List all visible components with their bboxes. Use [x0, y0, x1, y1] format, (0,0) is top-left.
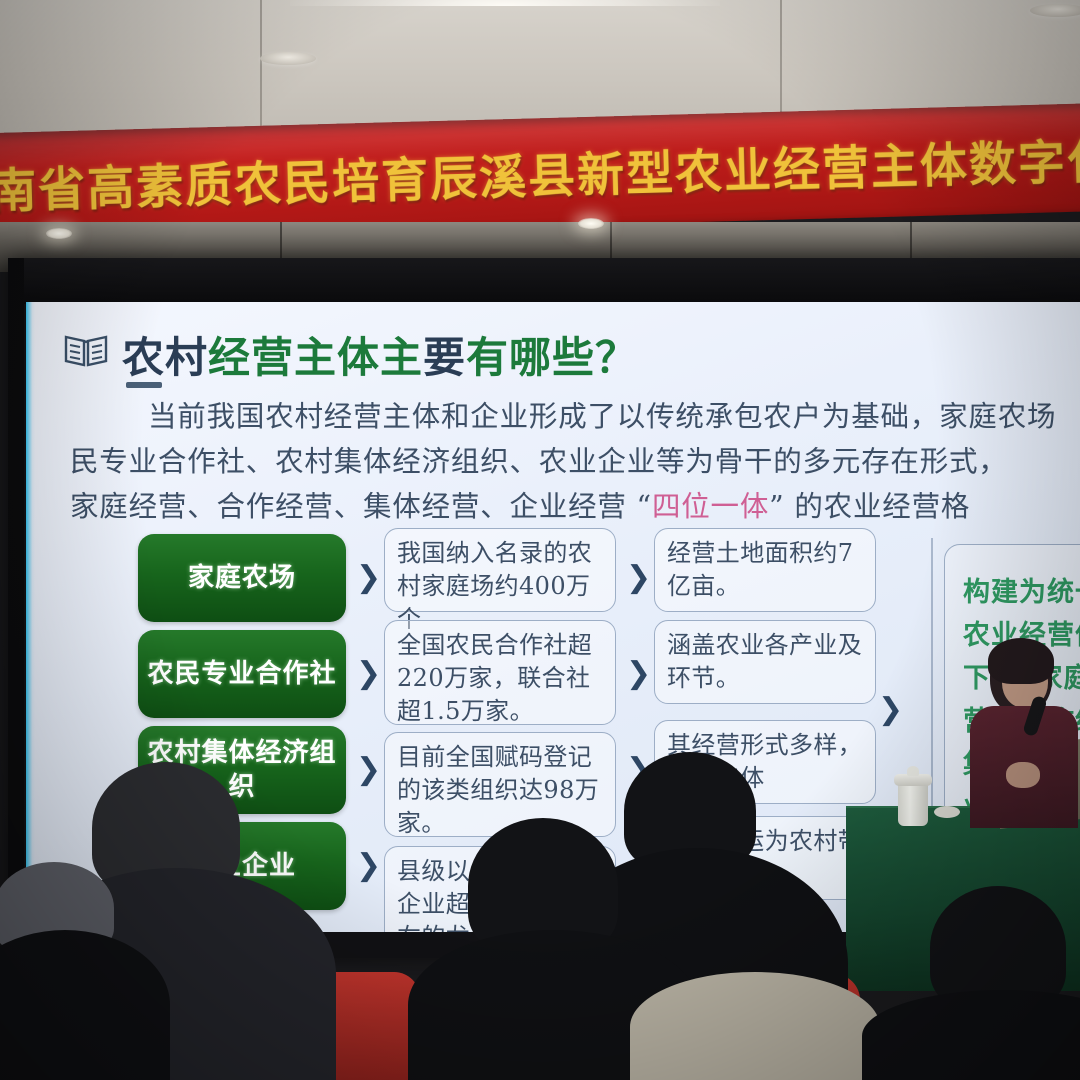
subject-box-farmer-cooperative[interactable]: 农民专业合作社 [138, 630, 346, 718]
ceiling-glare [290, 0, 720, 6]
chevron-right-icon: ❯ [626, 560, 651, 595]
paragraph-highlight-phrase: 四位一体 [652, 490, 769, 523]
title-segment-4-highlight: 有哪些？ [466, 333, 638, 382]
chevron-right-icon: ❯ [878, 692, 903, 727]
chevron-right-icon: ❯ [626, 656, 651, 691]
ceiling-downlight [260, 52, 316, 65]
ceiling-downlight [1030, 4, 1080, 17]
screen-top-bezel [24, 258, 1080, 304]
audience-foreground [0, 740, 1080, 1080]
paragraph-line-2: 民专业合作社、农村集体经济组织、农业企业等为骨干的多元存在形式， [70, 439, 1080, 484]
title-segment-1: 农村 [122, 333, 208, 382]
title-segment-3: 要 [423, 333, 466, 382]
stat-box: 经营土地面积约7亿亩。 [654, 528, 876, 612]
paragraph-line-1: 当前我国农村经营主体和企业形成了以传统承包农户为基础，家庭农场 [70, 394, 1080, 439]
stat-box: 我国纳入名录的农村家庭场约400万个 [384, 528, 616, 612]
audience-shoulders [630, 972, 880, 1080]
paragraph-line-3-pre: 家庭经营、合作经营、集体经营、企业经营 “ [70, 490, 652, 523]
title-underline-accent [126, 382, 162, 388]
slide-header: 农村经营主体主要有哪些？ [64, 324, 638, 385]
spot-light [578, 218, 604, 229]
chevron-right-icon: ❯ [356, 560, 381, 595]
stat-box: 全国农民合作社超220万家，联合社超1.5万家。 [384, 620, 616, 725]
subject-box-family-farm[interactable]: 家庭农场 [138, 534, 346, 622]
slide-paragraph: 当前我国农村经营主体和企业形成了以传统承包农户为基础，家庭农场 民专业合作社、农… [70, 394, 1080, 529]
page-title: 农村经营主体主要有哪些？ [122, 324, 638, 385]
chevron-right-icon: ❯ [356, 656, 381, 691]
open-book-icon [64, 332, 108, 368]
spot-light [46, 228, 72, 239]
stat-box: 涵盖农业各产业及环节。 [654, 620, 876, 704]
presenter-hair [988, 638, 1054, 684]
summary-line: 构建为统一的 [963, 571, 1080, 614]
paragraph-line-3: 家庭经营、合作经营、集体经营、企业经营 “四位一体” 的农业经营格 [70, 484, 1080, 529]
title-segment-2-highlight: 经营主体主 [208, 333, 423, 382]
paragraph-line-3-post: ” 的农业经营格 [769, 490, 970, 523]
audience-shoulders [862, 990, 1080, 1080]
conference-room-scene: 湖南省高素质农民培育辰溪县新型农业经营主体数字化技能专 [0, 0, 1080, 1080]
